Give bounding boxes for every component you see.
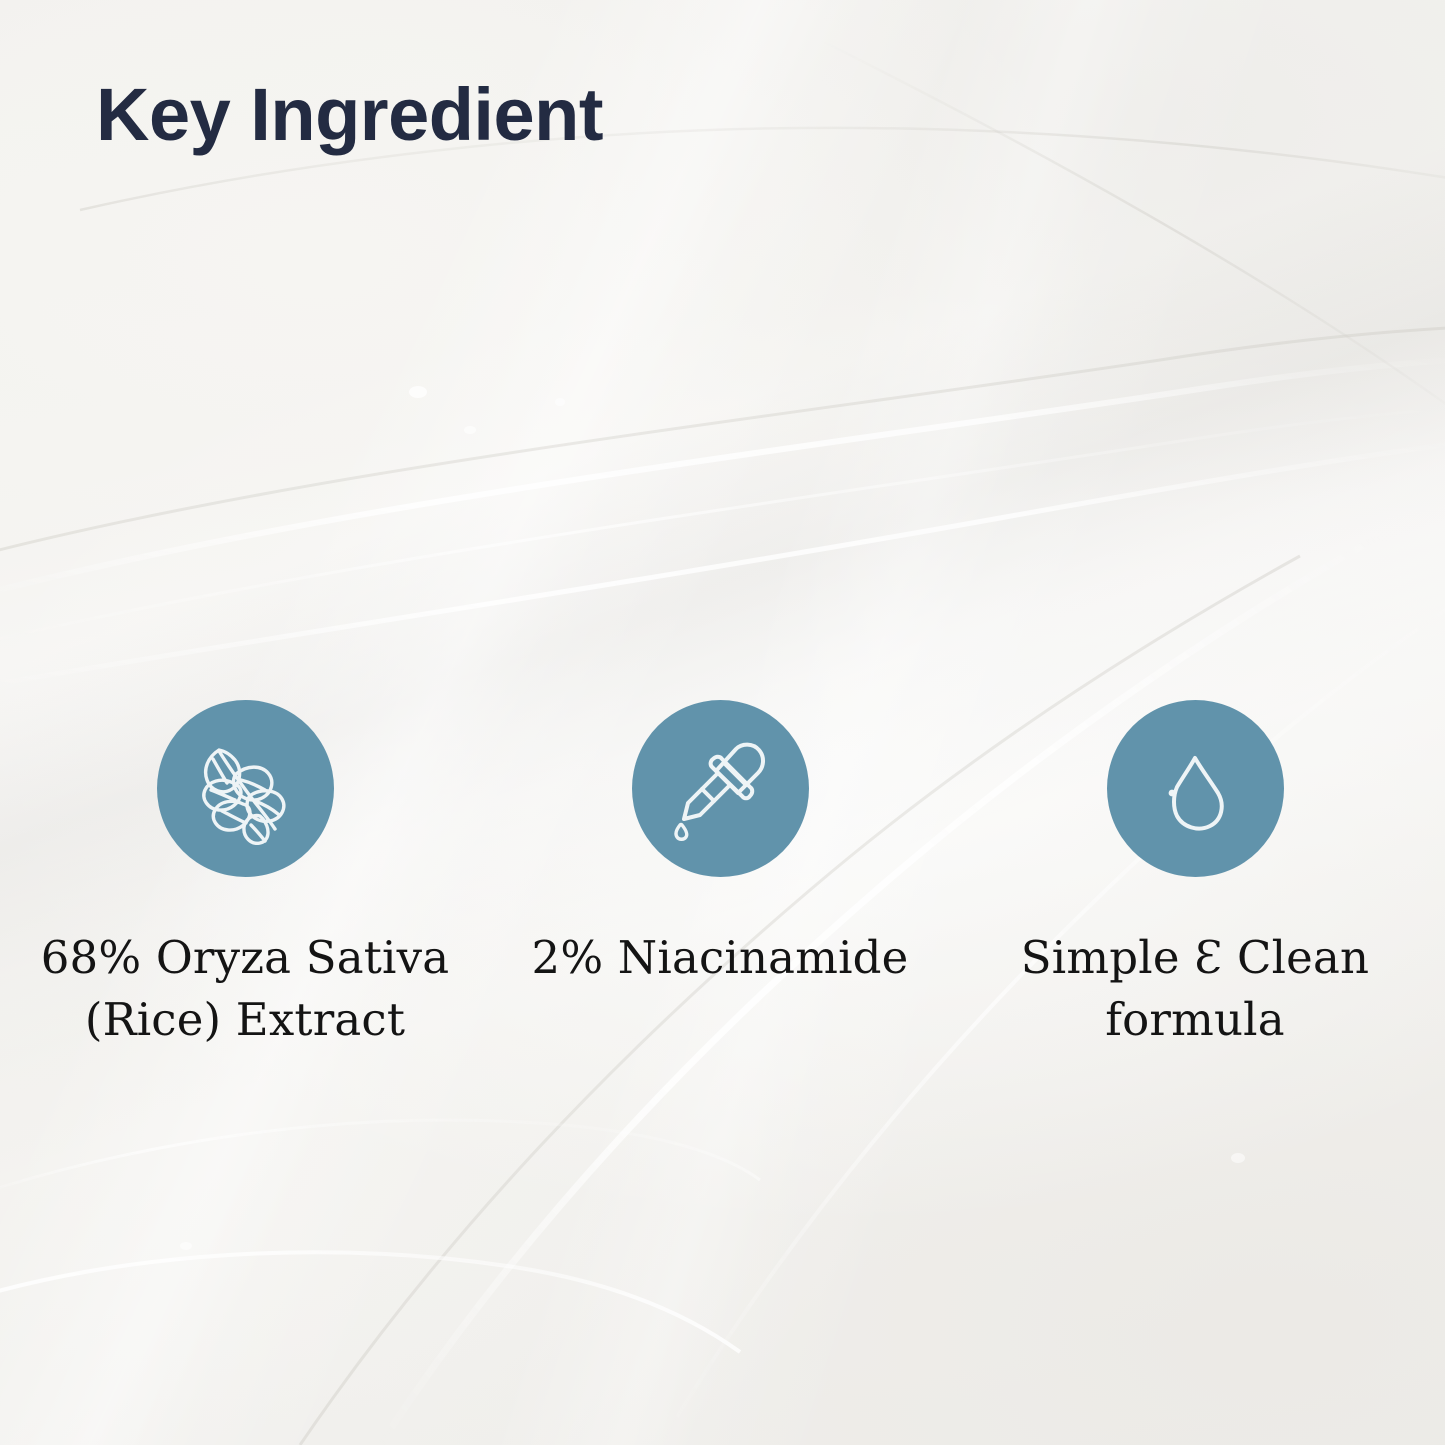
feature-badge-3 [1107, 700, 1284, 877]
water-droplet-icon [1139, 733, 1251, 845]
feature-item-clean-formula: Simple Ɛ Clean formula [960, 700, 1430, 1051]
dropper-pipette-icon [664, 733, 776, 845]
leaf-branch-icon [189, 733, 301, 845]
key-ingredient-panel: Key Ingredient [0, 0, 1445, 1445]
feature-caption-1: 68% Oryza Sativa (Rice) Extract [30, 927, 460, 1051]
droplet-highlight-dot [1169, 789, 1176, 796]
feature-badge-2 [632, 700, 809, 877]
feature-caption-3: Simple Ɛ Clean formula [980, 927, 1410, 1051]
feature-caption-2: 2% Niacinamide [532, 927, 909, 989]
feature-badge-1 [157, 700, 334, 877]
feature-item-oryza-sativa: 68% Oryza Sativa (Rice) Extract [0, 700, 490, 1051]
feature-row: 68% Oryza Sativa (Rice) Extract [0, 700, 1445, 1051]
page-title: Key Ingredient [96, 78, 603, 152]
feature-item-niacinamide: 2% Niacinamide [490, 700, 950, 989]
